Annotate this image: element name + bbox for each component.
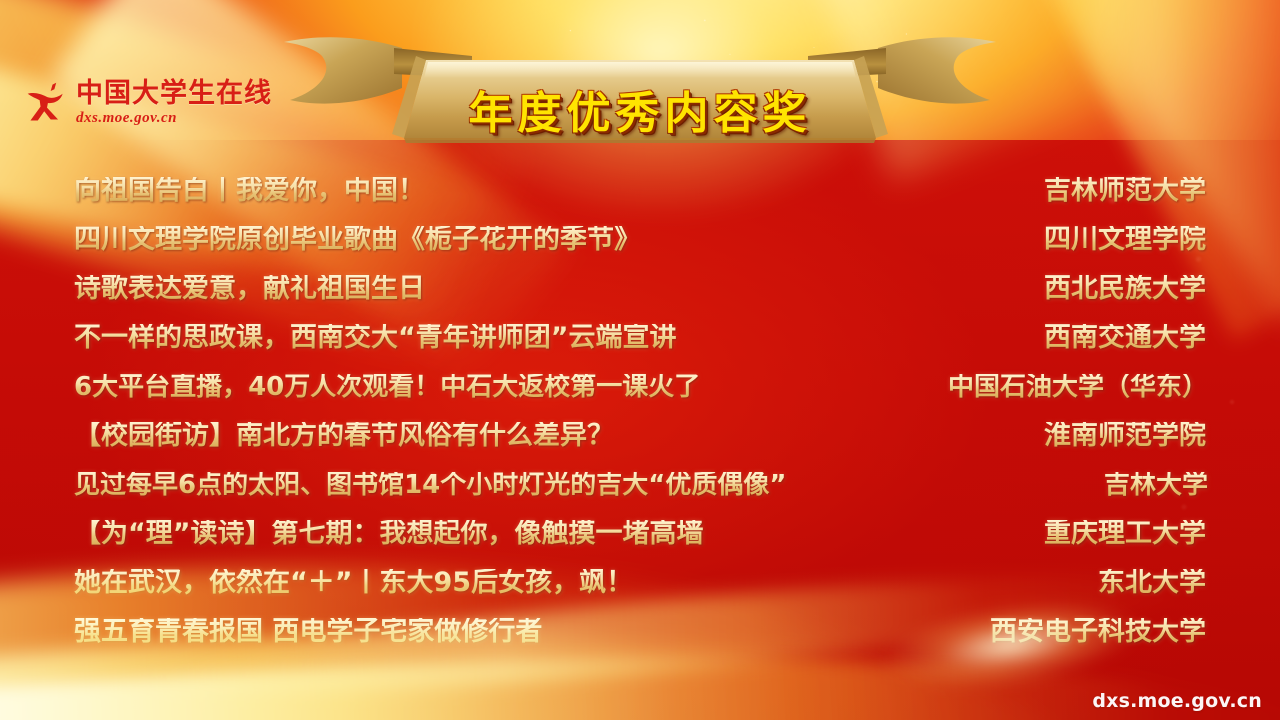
award-organization: 重庆理工大学 [1026,520,1206,547]
award-row: 6大平台直播，40万人次观看！中石大返校第一课火了 中国石油大学（华东） [0,362,1280,411]
award-slide: 中国大学生在线 dxs.moe.gov.cn [0,0,1280,720]
award-title: 四川文理学院原创毕业歌曲《栀子花开的季节》 [74,226,1026,253]
award-title: 诗歌表达爱意，献礼祖国生日 [74,275,1026,302]
award-organization: 四川文理学院 [1026,226,1206,253]
award-organization: 中国石油大学（华东） [930,374,1208,400]
award-row: 强五育青春报国 西电学子宅家做修行者 西安电子科技大学 [0,607,1280,656]
award-row: 她在武汉，依然在“＋”丨东大95后女孩，飒！ 东北大学 [0,558,1280,607]
award-organization: 吉林师范大学 [1026,177,1206,204]
award-title: 【为“理”读诗】第七期：我想起你，像触摸一堵高墙 [74,520,1026,547]
banner-title: 年度优秀内容奖 [276,92,1004,136]
ribbon-banner: 年度优秀内容奖 [276,26,1004,144]
award-title: 6大平台直播，40万人次观看！中石大返校第一课火了 [74,374,930,400]
award-organization: 东北大学 [1080,569,1206,596]
award-title: 【校园街访】南北方的春节风俗有什么差异？ [74,422,1026,449]
award-title: 强五育青春报国 西电学子宅家做修行者 [74,618,972,645]
award-organization: 西安电子科技大学 [972,618,1206,645]
award-row: 不一样的思政课，西南交大“青年讲师团”云端宣讲 西南交通大学 [0,313,1280,362]
award-title: 不一样的思政课，西南交大“青年讲师团”云端宣讲 [74,324,1026,351]
award-organization: 淮南师范学院 [1026,422,1206,449]
award-row: 【为“理”读诗】第七期：我想起你，像触摸一堵高墙 重庆理工大学 [0,509,1280,558]
award-row: 见过每早6点的太阳、图书馆14个小时灯光的吉大“优质偶像” 吉林大学 [0,460,1280,509]
brand-name: 中国大学生在线 [76,80,272,107]
award-row: 【校园街访】南北方的春节风俗有什么差异？ 淮南师范学院 [0,411,1280,460]
running-person-icon [24,80,70,126]
award-row: 向祖国告白丨我爱你，中国！ 吉林师范大学 [0,166,1280,215]
award-title: 见过每早6点的太阳、图书馆14个小时灯光的吉大“优质偶像” [74,472,1086,498]
award-organization: 吉林大学 [1086,472,1208,498]
award-row: 四川文理学院原创毕业歌曲《栀子花开的季节》 四川文理学院 [0,215,1280,264]
award-title: 她在武汉，依然在“＋”丨东大95后女孩，飒！ [74,569,1080,596]
brand-logo: 中国大学生在线 dxs.moe.gov.cn [24,72,294,134]
award-title: 向祖国告白丨我爱你，中国！ [74,177,1026,204]
award-organization: 西北民族大学 [1026,275,1206,302]
brand-url: dxs.moe.gov.cn [76,111,272,126]
watermark-url: dxs.moe.gov.cn [1092,690,1262,712]
award-list: 向祖国告白丨我爱你，中国！ 吉林师范大学 四川文理学院原创毕业歌曲《栀子花开的季… [0,166,1280,656]
award-organization: 西南交通大学 [1026,324,1206,351]
award-row: 诗歌表达爱意，献礼祖国生日 西北民族大学 [0,264,1280,313]
